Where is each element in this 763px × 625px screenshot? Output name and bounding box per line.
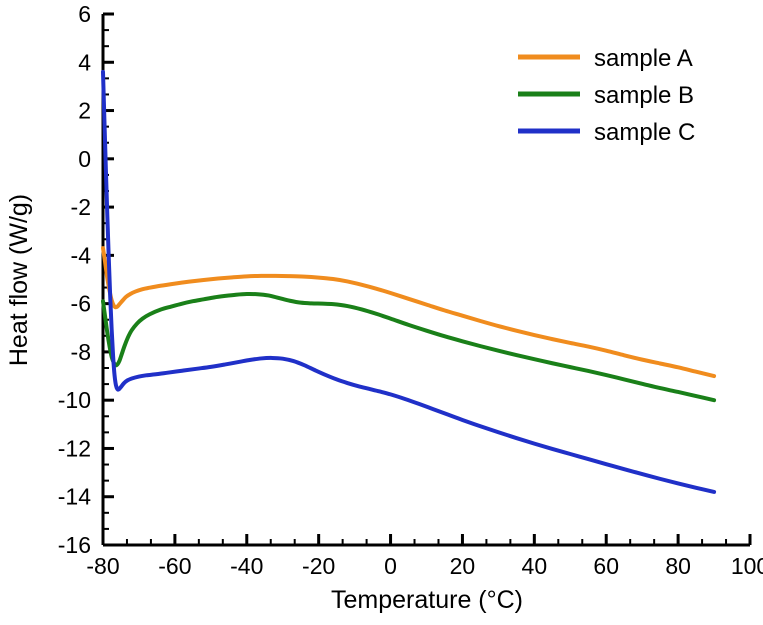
y-tick-label: -10 bbox=[58, 387, 91, 413]
x-tick-label: -60 bbox=[158, 553, 191, 579]
legend-label-3: sample C bbox=[594, 119, 695, 146]
y-tick-label: 2 bbox=[78, 98, 91, 124]
x-axis-tick-labels: -80-60-40-20020406080100 bbox=[86, 553, 763, 579]
y-axis-title: Heat flow (W/g) bbox=[5, 194, 33, 366]
x-axis-title: Temperature (°C) bbox=[331, 586, 523, 614]
chart-container: -80-60-40-20020406080100 -16-14-12-10-8-… bbox=[0, 0, 763, 625]
series-line-1 bbox=[103, 248, 714, 376]
y-tick-label: -6 bbox=[71, 291, 91, 317]
legend: sample Asample Bsample C bbox=[518, 45, 695, 146]
series-line-2 bbox=[103, 294, 714, 400]
x-tick-label: 40 bbox=[522, 553, 548, 579]
y-tick-label: -8 bbox=[71, 339, 91, 365]
y-tick-label: -16 bbox=[58, 532, 91, 558]
y-tick-label: -12 bbox=[58, 435, 91, 461]
x-axis-ticks bbox=[103, 534, 750, 545]
x-tick-label: 20 bbox=[450, 553, 476, 579]
legend-label-1: sample A bbox=[594, 45, 693, 72]
x-tick-label: 0 bbox=[384, 553, 397, 579]
y-tick-label: -4 bbox=[71, 242, 92, 268]
y-tick-label: -14 bbox=[58, 484, 91, 510]
y-tick-label: 0 bbox=[78, 146, 91, 172]
y-tick-label: 4 bbox=[78, 49, 91, 75]
y-tick-label: 6 bbox=[78, 1, 91, 27]
line-chart: -80-60-40-20020406080100 -16-14-12-10-8-… bbox=[0, 0, 763, 625]
x-tick-label: 80 bbox=[665, 553, 691, 579]
x-tick-label: -40 bbox=[230, 553, 263, 579]
x-tick-label: -20 bbox=[302, 553, 335, 579]
x-tick-label: 60 bbox=[593, 553, 619, 579]
x-tick-label: 100 bbox=[731, 553, 763, 579]
x-tick-label: -80 bbox=[86, 553, 119, 579]
y-tick-label: -2 bbox=[71, 194, 91, 220]
legend-label-2: sample B bbox=[594, 82, 694, 109]
y-axis-tick-labels: -16-14-12-10-8-6-4-20246 bbox=[58, 1, 91, 558]
